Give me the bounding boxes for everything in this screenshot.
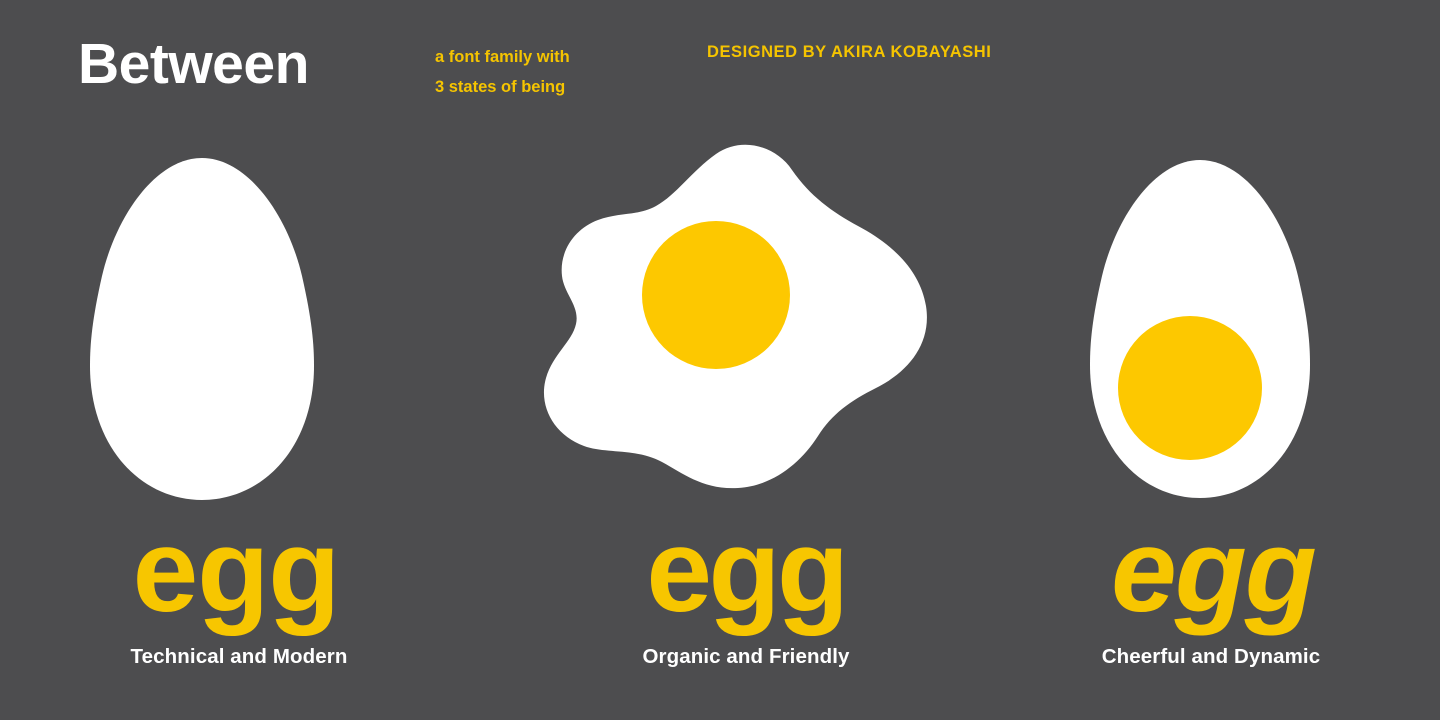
tagline: a font family with 3 states of being — [435, 42, 570, 102]
wordmark-technical: egg — [0, 512, 476, 630]
fried-egg-icon — [480, 130, 960, 520]
whole-egg-svg — [0, 130, 480, 520]
specimen-column-technical: egg Technical and Modern — [0, 130, 480, 720]
yolk-shape — [642, 221, 790, 369]
poster-header: Between a font family with 3 states of b… — [0, 0, 1440, 130]
fried-egg-svg — [480, 130, 960, 520]
page-title: Between — [78, 36, 309, 93]
caption-organic: Organic and Friendly — [506, 645, 986, 669]
specimen-columns: egg Technical and Modern egg Organic and… — [0, 130, 1440, 720]
caption-cheerful: Cheerful and Dynamic — [971, 645, 1440, 669]
font-specimen-poster: Between a font family with 3 states of b… — [0, 0, 1440, 720]
wordmark-cheerful: egg — [973, 512, 1440, 630]
caption-technical: Technical and Modern — [0, 645, 479, 669]
designer-credit: DESIGNED BY AKIRA KOBAYASHI — [707, 43, 991, 62]
egg-white-shape — [90, 158, 314, 500]
boiled-egg-halved-icon — [960, 130, 1440, 520]
whole-egg-icon — [0, 130, 480, 520]
tagline-line-2: 3 states of being — [435, 72, 570, 102]
wordmark-organic: egg — [506, 512, 986, 630]
boiled-egg-svg — [960, 130, 1440, 520]
yolk-shape — [1118, 316, 1262, 460]
specimen-column-organic: egg Organic and Friendly — [480, 130, 960, 720]
specimen-column-cheerful: egg Cheerful and Dynamic — [960, 130, 1440, 720]
tagline-line-1: a font family with — [435, 42, 570, 72]
